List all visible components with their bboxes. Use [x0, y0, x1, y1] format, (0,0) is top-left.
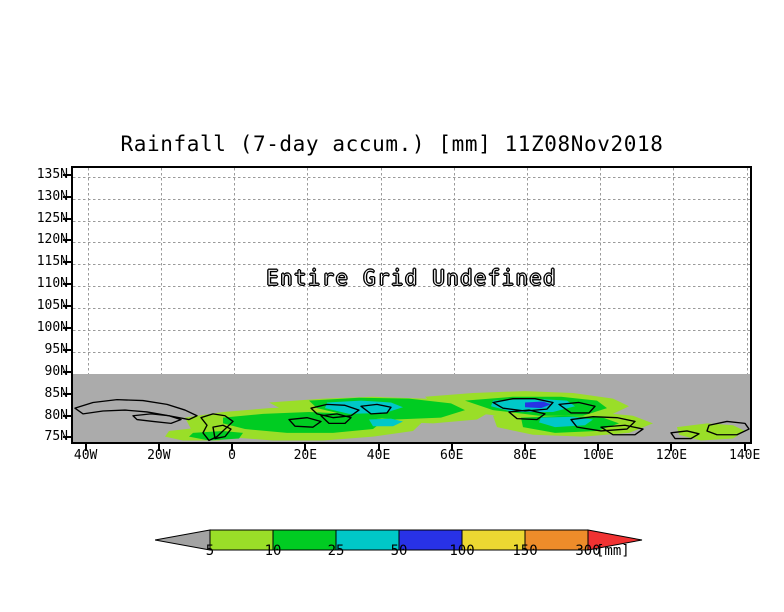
y-axis-tick-label: 125N: [8, 211, 68, 226]
x-axis-tick-label: 0: [202, 448, 262, 463]
y-axis-tick-label: 130N: [8, 189, 68, 204]
y-axis-tick-label: 100N: [8, 320, 68, 335]
masked-region: [73, 374, 750, 444]
y-axis-tick-label: 105N: [8, 298, 68, 313]
colorbar-tick-label: 5: [183, 543, 237, 559]
x-axis-tick-label: 40W: [56, 448, 116, 463]
y-axis-tick-label: 115N: [8, 254, 68, 269]
y-axis-tick-label: 80N: [8, 408, 68, 423]
plot-area: Entire Grid Undefined: [71, 166, 752, 444]
gridline-horizontal: [73, 199, 750, 200]
x-axis-tick-label: 20E: [275, 448, 335, 463]
colorbar-tick-label: 25: [309, 543, 363, 559]
y-axis-tick-label: 85N: [8, 386, 68, 401]
gridline-horizontal: [73, 330, 750, 331]
y-axis-tick-label: 120N: [8, 232, 68, 247]
page-title: Rainfall (7-day accum.) [mm] 11Z08Nov201…: [0, 132, 784, 156]
gridline-horizontal: [73, 264, 750, 265]
gridline-horizontal: [73, 286, 750, 287]
y-axis-tick-label: 75N: [8, 429, 68, 444]
gridline-horizontal: [73, 221, 750, 222]
x-axis-tick-label: 100E: [568, 448, 628, 463]
x-axis-tick-label: 80E: [495, 448, 555, 463]
y-axis-tick-label: 110N: [8, 276, 68, 291]
y-axis-tick-label: 135N: [8, 167, 68, 182]
y-axis-tick-label: 95N: [8, 342, 68, 357]
x-axis-tick-label: 40E: [349, 448, 409, 463]
plot-canvas: Entire Grid Undefined: [73, 168, 750, 442]
rainfall-shading: [165, 391, 745, 440]
x-axis-tick-label: 140E: [715, 448, 775, 463]
colorbar-unit-label: [mm]: [596, 543, 630, 559]
colorbar-tick-label: 100: [435, 543, 489, 559]
colorbar-tick-label: 50: [372, 543, 426, 559]
x-axis-tick-label: 20W: [129, 448, 189, 463]
rainfall-map: [73, 374, 750, 444]
y-axis-tick-label: 90N: [8, 364, 68, 379]
gridline-horizontal: [73, 242, 750, 243]
gridline-horizontal: [73, 177, 750, 178]
x-axis-tick-label: 120E: [641, 448, 701, 463]
colorbar-tick-label: 10: [246, 543, 300, 559]
colorbar-tick-label: 150: [498, 543, 552, 559]
gridline-horizontal: [73, 352, 750, 353]
x-axis-tick-label: 60E: [422, 448, 482, 463]
gridline-horizontal: [73, 308, 750, 309]
